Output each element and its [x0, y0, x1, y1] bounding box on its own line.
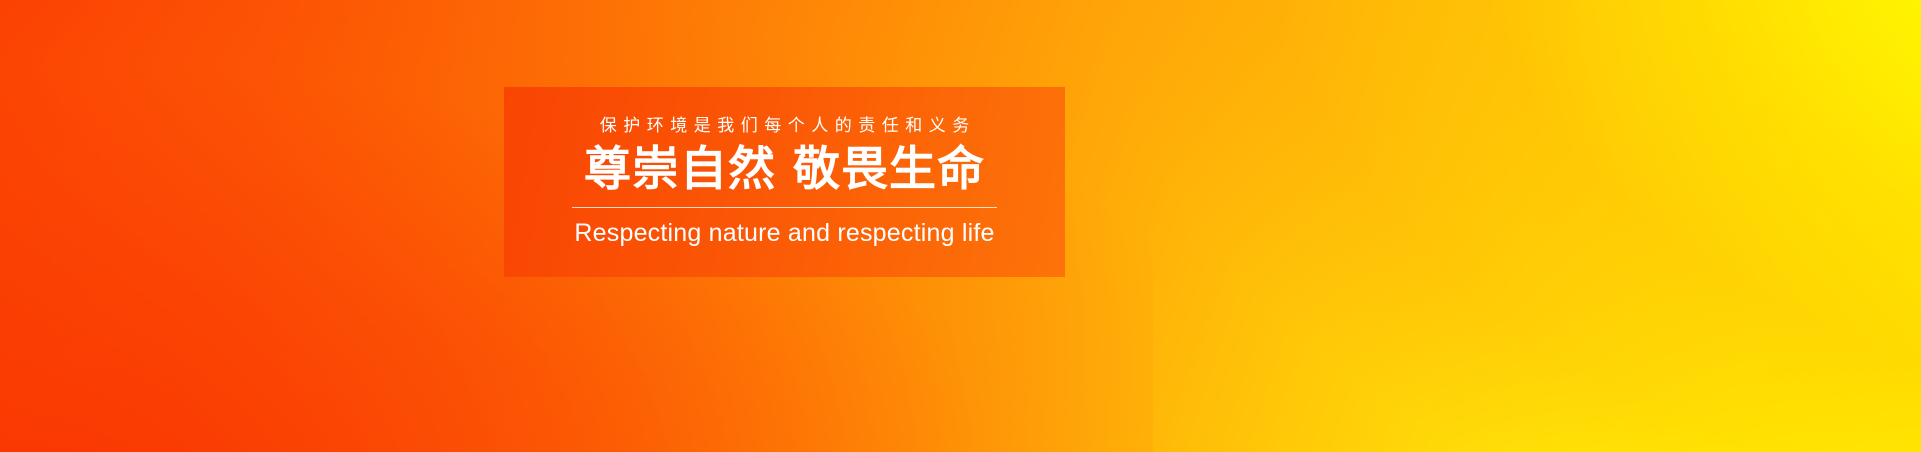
environmental-banner: 保护环境是我们每个人的责任和义务 尊崇自然敬畏生命 Respecting nat… [0, 0, 1921, 452]
english-subtitle: Respecting nature and respecting life [574, 220, 994, 248]
chinese-headline: 尊崇自然敬畏生命 [584, 144, 985, 195]
headline-phrase-two: 敬畏生命 [793, 142, 985, 195]
message-panel-content: 保护环境是我们每个人的责任和义务 尊崇自然敬畏生命 Respecting nat… [504, 117, 1065, 248]
message-panel: 保护环境是我们每个人的责任和义务 尊崇自然敬畏生命 Respecting nat… [504, 87, 1065, 277]
headline-phrase-one: 尊崇自然 [584, 142, 776, 195]
chinese-subtitle: 保护环境是我们每个人的责任和义务 [593, 117, 976, 136]
divider-rule [572, 207, 997, 208]
